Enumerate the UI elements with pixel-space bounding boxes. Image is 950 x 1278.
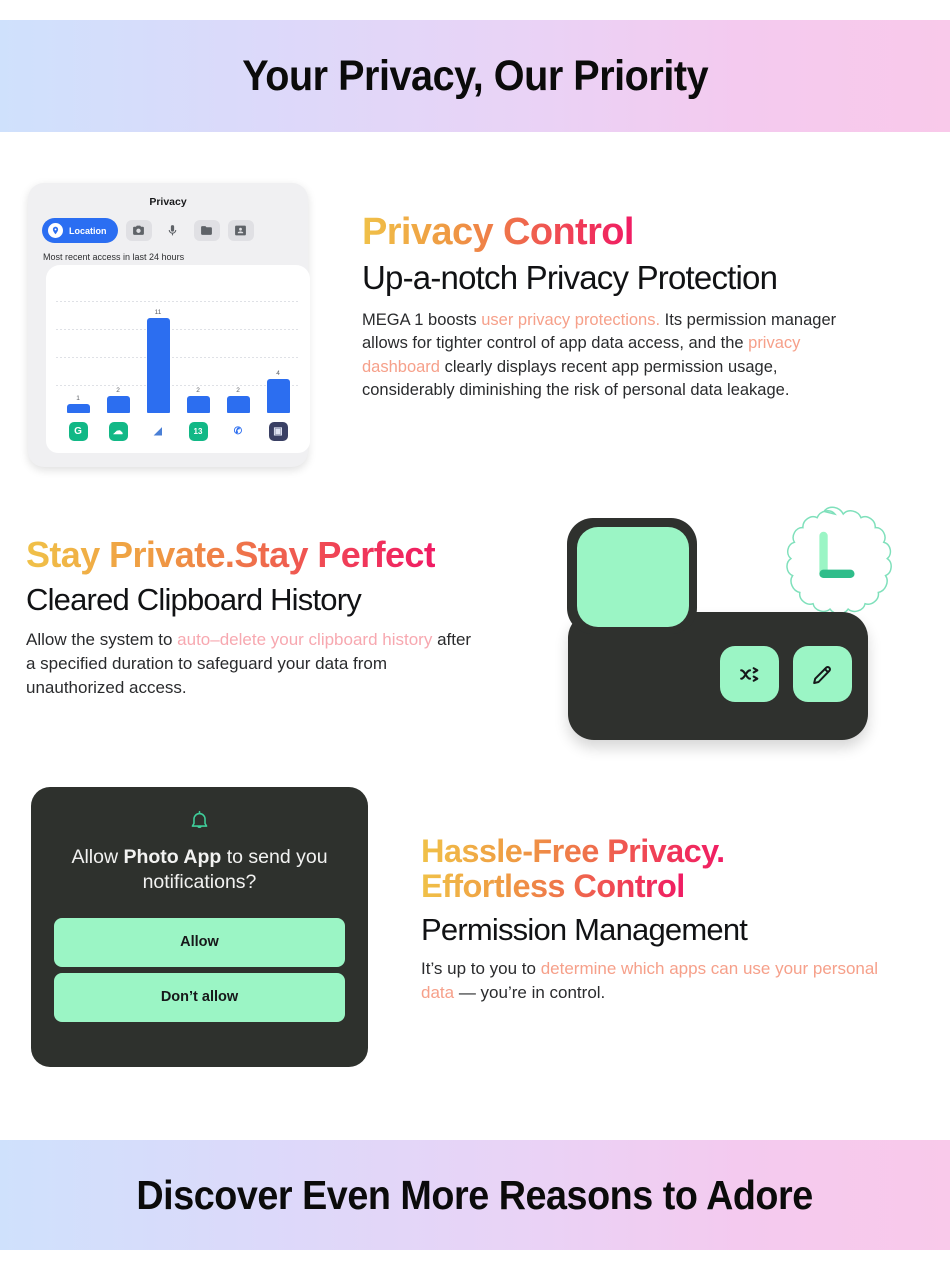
highlight-user-privacy: user privacy protections. [481,311,660,329]
bell-icon [187,809,212,834]
chart-bar-group: 1211224 [58,293,298,413]
notification-permission-dialog: Allow Photo App to send you notification… [31,787,368,1067]
privacy-dashboard-card: Privacy Location Most recent access i [28,183,308,467]
camera-icon [132,224,145,237]
clipboard-headline: Cleared Clipboard History [26,582,586,618]
bottom-banner-title: Discover Even More Reasons to Adore [137,1172,813,1219]
permission-eyebrow-line1: Hassle-Free Privacy. [421,834,725,869]
allow-button[interactable]: Allow [54,918,345,967]
dashboard-subtitle: Most recent access in last 24 hours [43,252,298,262]
chart-bar-value: 4 [276,370,280,377]
chart-bar [147,318,170,413]
camera-chip[interactable] [126,220,152,241]
contacts-chip[interactable] [228,220,254,241]
chart-bar-value: 11 [155,309,162,316]
chart-bar-column: 2 [183,387,213,413]
shuffle-icon [737,662,762,687]
dont-allow-button[interactable]: Don’t allow [54,973,345,1022]
location-chip-label: Location [69,226,107,236]
messages-app-icon: ▣ [269,422,288,441]
permission-body: It’s up to you to determine which apps c… [421,957,886,1005]
permission-chip-row: Location [42,218,296,243]
chart-bar [187,396,210,413]
chart-bar-column: 11 [143,309,173,413]
privacy-control-eyebrow: Privacy Control [362,212,634,253]
chart-bar [267,379,290,413]
privacy-control-body: MEGA 1 boosts user privacy protections. … [362,309,842,403]
top-banner-title: Your Privacy, Our Priority [242,52,708,101]
chart-bar [67,404,90,413]
permission-text-block: Hassle-Free Privacy. Effortless Control … [421,834,921,1005]
clipboard-edit-button[interactable] [793,646,852,702]
clipboard-preview [577,527,689,627]
notification-app-name: Photo App [123,846,221,868]
chart-bar-value: 2 [236,387,240,394]
calendar-app-icon: 13 [189,422,208,441]
chart-bar-value: 2 [196,387,200,394]
files-chip[interactable] [194,220,220,241]
clipboard-shuffle-button[interactable] [720,646,779,702]
maps-app-icon: ◢ [149,422,168,441]
permission-usage-chart: 1211224 G☁◢13✆▣ [46,265,310,453]
clipboard-text-block: Stay Private.Stay Perfect Cleared Clipbo… [26,536,586,700]
chart-bar-column: 2 [223,387,253,413]
microphone-icon [166,224,179,237]
chart-bar-column: 1 [63,395,93,413]
notification-message: Allow Photo App to send you notification… [55,845,345,896]
location-chip[interactable]: Location [42,218,118,243]
bottom-banner: Discover Even More Reasons to Adore [0,1140,950,1250]
top-banner: Your Privacy, Our Priority [0,20,950,132]
chart-app-icon-row: G☁◢13✆▣ [58,417,298,445]
chart-bar [107,396,130,413]
location-pin-icon [48,223,63,238]
clipboard-illustration [555,500,915,765]
folder-icon [200,224,213,237]
weather-app-icon: ☁ [109,422,128,441]
privacy-control-text-block: Privacy Control Up-a-notch Privacy Prote… [362,212,907,403]
chart-bar-column: 2 [103,387,133,413]
permission-headline: Permission Management [421,912,921,948]
privacy-feature-page: Your Privacy, Our Priority Privacy Locat… [0,0,950,1278]
contact-card-icon [234,224,247,237]
chart-bar [227,396,250,413]
google-app-icon: G [69,422,88,441]
clipboard-eyebrow: Stay Private.Stay Perfect [26,536,435,575]
permission-eyebrow-line2: Effortless Control [421,869,685,904]
clipboard-body: Allow the system to auto–delete your cli… [26,628,481,700]
chart-bar-value: 1 [76,395,80,402]
privacy-control-headline: Up-a-notch Privacy Protection [362,259,907,297]
highlight-auto-delete: auto–delete your clipboard history [177,630,432,649]
chart-bar-column: 4 [263,370,293,413]
dashboard-title: Privacy [38,196,298,208]
phone-app-icon: ✆ [229,422,248,441]
pencil-edit-icon [810,662,835,687]
microphone-chip[interactable] [160,220,186,241]
chart-bar-value: 2 [116,387,120,394]
